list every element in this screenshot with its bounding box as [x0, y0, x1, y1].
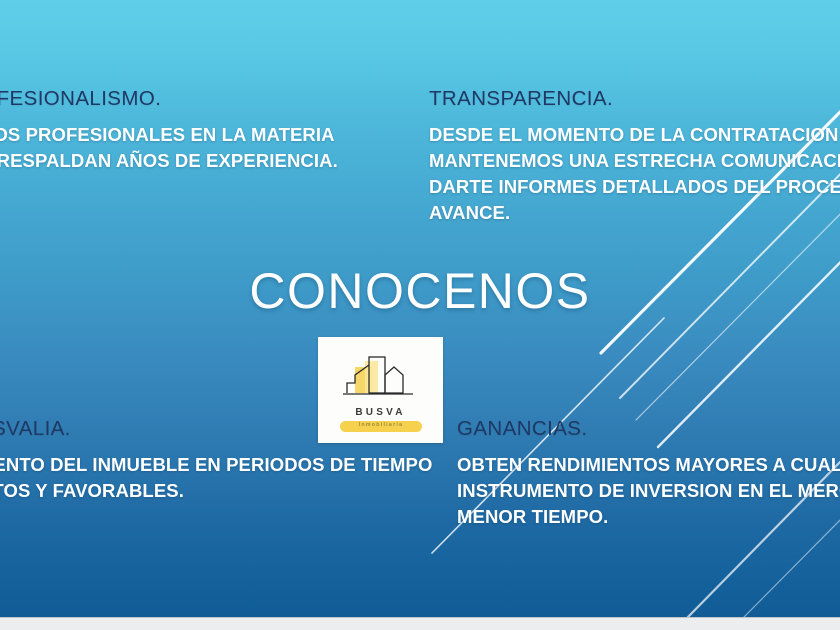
presentation-slide: PROFESIONALISMO. SOMOS PROFESIONALES EN …	[0, 0, 840, 617]
body-line: DARTE INFORMES DETALLADOS DEL PROCESO Y	[429, 174, 840, 200]
building-icon	[341, 353, 421, 405]
column-profesionalismo: PROFESIONALISMO. SOMOS PROFESIONALES EN …	[0, 88, 338, 174]
body-line: INSTRUMENTO DE INVERSION EN EL MERCADO E…	[457, 478, 840, 504]
body-line: CORTOS Y FAVORABLES.	[0, 478, 432, 504]
body-line: MENOR TIEMPO.	[457, 504, 840, 530]
body-line: AVANCE.	[429, 200, 840, 226]
column-heading: TRANSPARENCIA.	[429, 88, 840, 111]
body-line: DESDE EL MOMENTO DE LA CONTRATACION	[429, 122, 840, 148]
body-line: QUE RESPALDAN AÑOS DE EXPERIENCIA.	[0, 148, 338, 174]
column-body: OBTEN RENDIMIENTOS MAYORES A CUALQUIER I…	[457, 452, 840, 530]
column-heading: PROFESIONALISMO.	[0, 88, 338, 111]
logo-wordmark: BUSVA	[318, 407, 443, 418]
body-line: AUMENTO DEL INMUEBLE EN PERIODOS DE TIEM…	[0, 452, 432, 478]
column-body: SOMOS PROFESIONALES EN LA MATERIA QUE RE…	[0, 122, 338, 174]
column-transparencia: TRANSPARENCIA. DESDE EL MOMENTO DE LA CO…	[429, 88, 840, 226]
body-line: OBTEN RENDIMIENTOS MAYORES A CUALQUIER	[457, 452, 840, 478]
slide-title: CONOCENOS	[0, 262, 840, 320]
column-plusvalia: PLUSVALIA. AUMENTO DEL INMUEBLE EN PERIO…	[0, 418, 432, 504]
column-ganancias: GANANCIAS. OBTEN RENDIMIENTOS MAYORES A …	[457, 418, 840, 530]
body-line: MANTENEMOS UNA ESTRECHA COMUNICACION	[429, 148, 840, 174]
column-body: DESDE EL MOMENTO DE LA CONTRATACION MANT…	[429, 122, 840, 226]
column-body: AUMENTO DEL INMUEBLE EN PERIODOS DE TIEM…	[0, 452, 432, 504]
viewer-bottom-strip	[0, 617, 840, 630]
body-line: SOMOS PROFESIONALES EN LA MATERIA	[0, 122, 338, 148]
column-heading: PLUSVALIA.	[0, 418, 432, 441]
column-heading: GANANCIAS.	[457, 418, 840, 441]
